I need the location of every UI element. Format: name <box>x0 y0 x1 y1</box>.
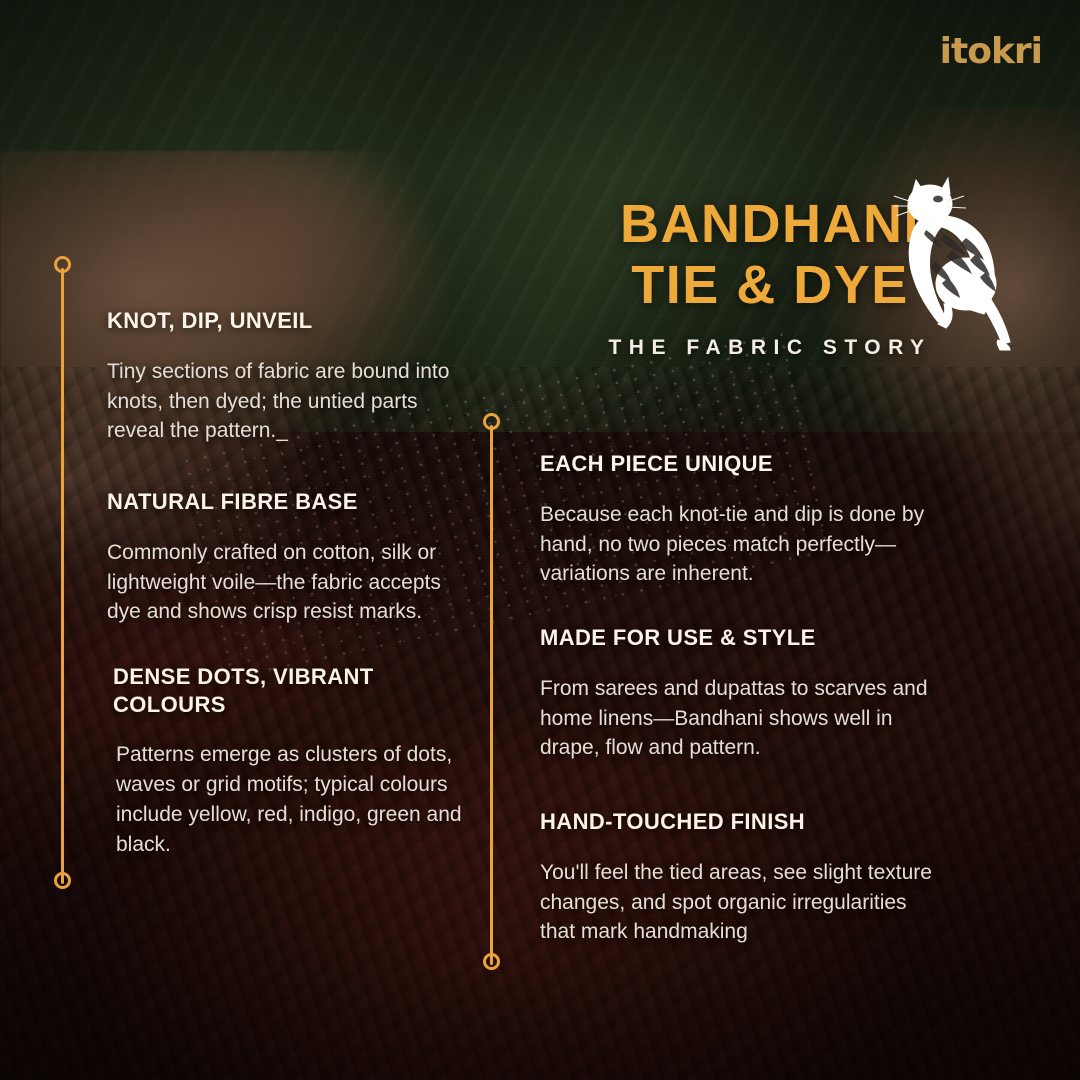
feature-block-dense-dots-vibrant-colours: DENSE DOTS, VIBRANT COLOURS Patterns eme… <box>113 663 463 860</box>
feature-heading: EACH PIECE UNIQUE <box>540 450 940 478</box>
feature-body: Patterns emerge as clusters of dots, wav… <box>116 740 463 859</box>
feature-heading: DENSE DOTS, VIBRANT COLOURS <box>113 663 463 718</box>
feature-heading: NATURAL FIBRE BASE <box>107 488 467 516</box>
feature-heading: HAND-TOUCHED FINISH <box>540 808 945 836</box>
left-timeline-rail <box>61 268 64 884</box>
feature-body: You'll feel the tied areas, see slight t… <box>540 858 945 947</box>
feature-body: Because each knot-tie and dip is done by… <box>540 500 940 589</box>
feature-body: Tiny sections of fabric are bound into k… <box>107 357 472 446</box>
feature-body: From sarees and dupattas to scarves and … <box>540 674 940 763</box>
itokri-logo[interactable]: itokri <box>940 34 1042 70</box>
right-rail-top-node-icon <box>483 413 500 430</box>
right-timeline-rail <box>490 425 493 965</box>
feature-block-hand-touched-finish: HAND-TOUCHED FINISH You'll feel the tied… <box>540 808 945 947</box>
feature-body: Commonly crafted on cotton, silk or ligh… <box>107 538 467 627</box>
right-rail-bottom-node-icon <box>483 953 500 970</box>
infographic-poster: itokri BANDHANI TIE & DYE THE FABRIC STO… <box>0 0 1080 1080</box>
feature-block-each-piece-unique: EACH PIECE UNIQUE Because each knot-tie … <box>540 450 940 589</box>
feature-heading: KNOT, DIP, UNVEIL <box>107 307 472 335</box>
cat-illustration-icon <box>890 172 1020 352</box>
left-rail-bottom-node-icon <box>54 872 71 889</box>
feature-heading: MADE FOR USE & STYLE <box>540 624 940 652</box>
feature-block-natural-fibre-base: NATURAL FIBRE BASE Commonly crafted on c… <box>107 488 467 627</box>
feature-block-knot-dip-unveil: KNOT, DIP, UNVEIL Tiny sections of fabri… <box>107 307 472 446</box>
feature-block-made-for-use-and-style: MADE FOR USE & STYLE From sarees and dup… <box>540 624 940 763</box>
left-rail-top-node-icon <box>54 256 71 273</box>
